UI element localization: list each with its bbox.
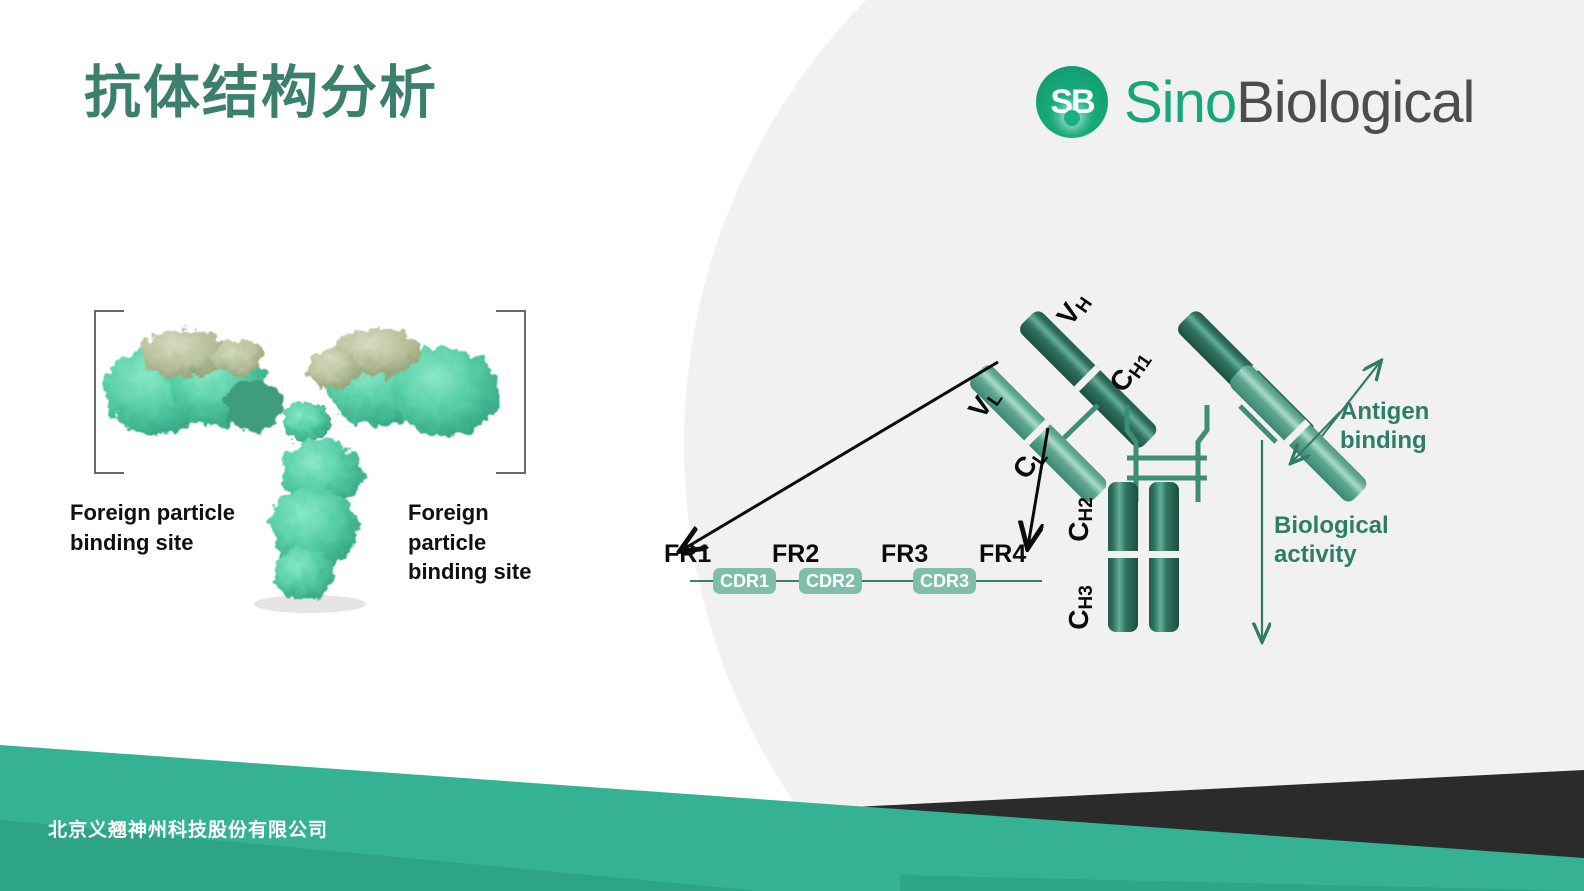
region-cdr3: CDR3 — [913, 568, 976, 594]
logo-mark-dot-icon — [1064, 110, 1080, 126]
logo-word-biological: Biological — [1236, 70, 1474, 135]
callout-antigen-binding: Antigen binding — [1340, 398, 1429, 456]
foreign-particle-label-left-line2: binding site — [70, 528, 235, 558]
foreign-particle-label-right-line1: Foreign particle — [408, 498, 548, 557]
callout-biological-activity-line1: Biological — [1274, 512, 1389, 541]
region-fr4: FR4 — [979, 540, 1026, 569]
fc-stem-left-chain — [1108, 482, 1138, 632]
callout-biological-activity: Biological activity — [1274, 512, 1389, 570]
foreign-particle-label-left-line1: Foreign particle — [70, 498, 235, 528]
footer-company-name: 北京义翘神州科技股份有限公司 — [48, 815, 328, 842]
fc-stem-right-chain — [1149, 482, 1179, 632]
callout-biological-activity-line2: activity — [1274, 541, 1389, 570]
logo-mark-text: SB — [1036, 66, 1108, 138]
fab-arm-right — [308, 328, 498, 436]
arrow-to-fr1 — [682, 362, 998, 550]
region-fr2: FR2 — [772, 540, 819, 569]
region-fr1: FR1 — [664, 540, 711, 569]
hinge-region — [282, 402, 330, 442]
label-ch3: CH3 — [1063, 585, 1098, 630]
fc-region — [270, 440, 362, 600]
foreign-particle-label-left: Foreign particle binding site — [70, 498, 235, 557]
footer-decorative-shapes — [0, 700, 1584, 891]
antibody-schematic-diagram: VH CH1 VL CL CH2 CH3 Antigen binding Bio… — [640, 250, 1520, 670]
region-fr3: FR3 — [881, 540, 928, 569]
callout-antigen-binding-line2: binding — [1340, 427, 1429, 456]
foreign-particle-label-right-line2: binding site — [408, 557, 548, 587]
region-cdr1: CDR1 — [713, 568, 776, 594]
sino-biological-mark-icon: SB — [1036, 66, 1108, 138]
label-ch2: CH2 — [1063, 497, 1098, 542]
foreign-particle-label-right: Foreign particle binding site — [408, 498, 548, 587]
interchain-link-left — [1064, 405, 1098, 438]
slide-root: 抗体结构分析 SB SinoBiological — [0, 0, 1584, 891]
protein-structure-figure: Foreign particle binding site Foreign pa… — [78, 296, 548, 626]
logo-wordmark: SinoBiological — [1124, 69, 1474, 136]
region-cdr2: CDR2 — [799, 568, 862, 594]
page-title: 抗体结构分析 — [84, 62, 438, 125]
fab-arm-left — [104, 330, 284, 434]
sequence-region-strip: FR1 FR2 FR3 FR4 CDR1 CDR2 CDR3 — [664, 540, 1064, 596]
brand-logo: SB SinoBiological — [1036, 62, 1474, 142]
callout-antigen-binding-line1: Antigen — [1340, 398, 1429, 427]
footer: 北京义翘神州科技股份有限公司 — [0, 700, 1584, 891]
logo-word-sino: Sino — [1124, 70, 1236, 135]
